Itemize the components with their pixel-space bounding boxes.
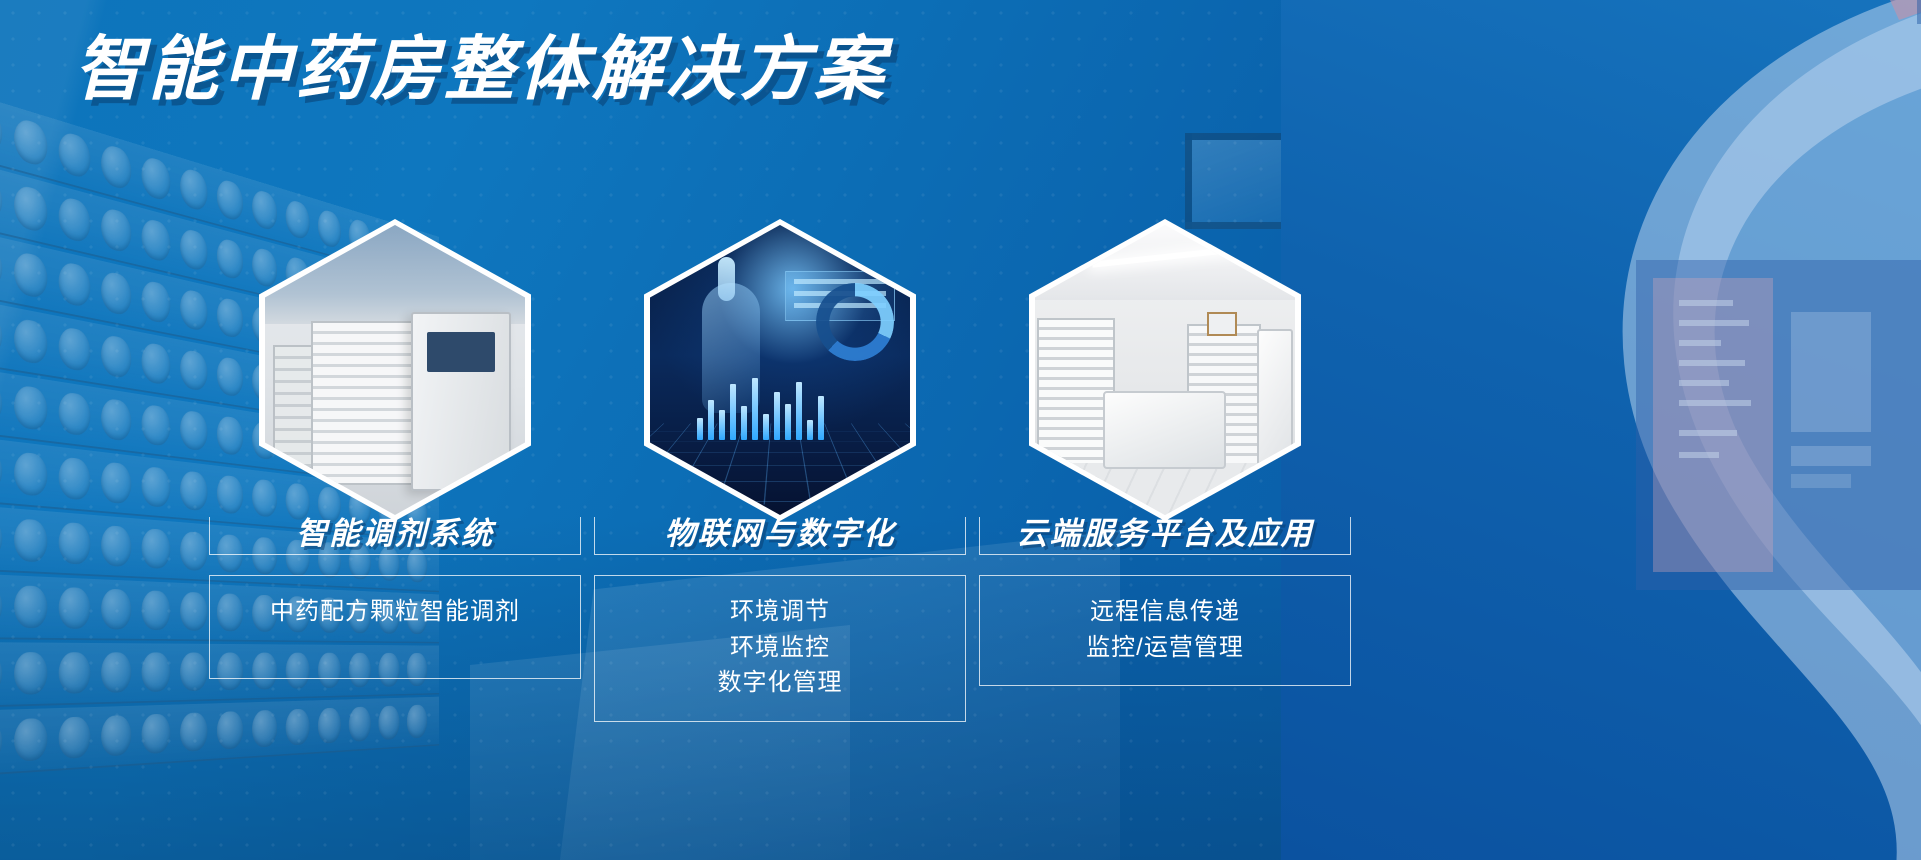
card-heading-rule <box>594 554 966 555</box>
list-item: 监控/运营管理 <box>990 630 1340 666</box>
card-heading: 智能调剂系统 <box>296 508 494 553</box>
poster-title: 智能中药房整体解决方案 <box>74 34 888 104</box>
card-feature-box: 远程信息传递 监控/运营管理 <box>979 575 1351 686</box>
card-cloud-service-platform[interactable]: 云端服务平台及应用 远程信息传递 监控/运营管理 <box>955 225 1375 515</box>
hex-image-clip <box>1035 225 1295 515</box>
card-heading-wrap: 物联网与数字化 <box>570 508 990 553</box>
cloud-pharmacy-room-photo <box>1035 225 1295 515</box>
card-heading-rule <box>209 554 581 555</box>
hex-photo-iot[interactable] <box>650 225 910 515</box>
list-item: 数字化管理 <box>605 665 955 701</box>
hex-photo-cloud[interactable] <box>1035 225 1295 515</box>
iot-digital-dashboard-photo <box>650 225 910 515</box>
card-heading-rule <box>979 554 1351 555</box>
hex-photo-dispensing[interactable] <box>265 225 525 515</box>
poster-canvas: 智能中药房整体解决方案 智能调剂系统 <box>0 0 1921 860</box>
photo-donut-chart <box>816 283 894 361</box>
photo-counter-desk <box>1103 391 1227 469</box>
list-item: 环境监控 <box>605 630 955 666</box>
list-item: 环境调节 <box>605 594 955 630</box>
photo-wall-frame <box>1207 312 1237 336</box>
photo-ceiling <box>1035 225 1295 300</box>
list-item: 远程信息传递 <box>990 594 1340 630</box>
hex-image-clip <box>265 225 525 515</box>
card-iot-digitalization[interactable]: 物联网与数字化 环境调节 环境监控 数字化管理 <box>570 225 990 515</box>
hex-image-clip <box>650 225 910 515</box>
list-item: 中药配方颗粒智能调剂 <box>220 594 570 630</box>
card-feature-box: 环境调节 环境监控 数字化管理 <box>594 575 966 722</box>
card-heading-wrap: 智能调剂系统 <box>185 508 605 553</box>
card-intelligent-dispensing[interactable]: 智能调剂系统 中药配方颗粒智能调剂 <box>185 225 605 515</box>
card-heading: 云端服务平台及应用 <box>1017 508 1314 553</box>
photo-bar-chart <box>697 370 824 440</box>
photo-rack-center <box>311 321 427 485</box>
solution-cards: 智能调剂系统 中药配方颗粒智能调剂 <box>0 225 1340 695</box>
card-feature-box: 中药配方颗粒智能调剂 <box>209 575 581 679</box>
brand-swoosh-graphic <box>1361 0 1921 860</box>
card-heading: 物联网与数字化 <box>665 508 896 553</box>
dispensing-machine-photo <box>265 225 525 515</box>
card-heading-wrap: 云端服务平台及应用 <box>955 508 1375 553</box>
